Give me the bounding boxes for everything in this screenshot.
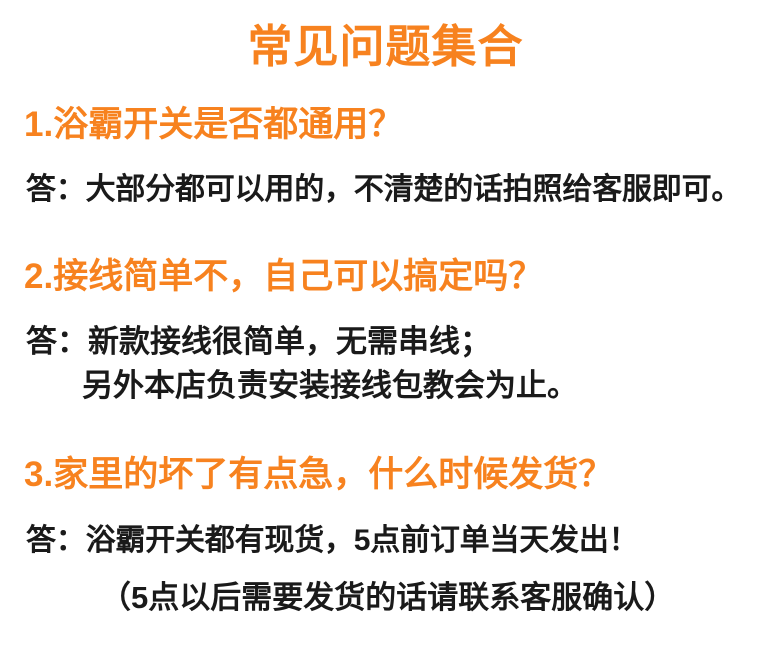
faq-page: 常见问题集合 1.浴霸开关是否都通用？ 答：大部分都可以用的，不清楚的话拍照给客… xyxy=(0,0,771,668)
faq-question-3: 3.家里的坏了有点急，什么时候发货？ xyxy=(0,454,771,495)
faq-item-1: 1.浴霸开关是否都通用？ xyxy=(0,104,771,145)
faq-answer-2-continuation: 另外本店负责安装接线包教会为止。 xyxy=(0,366,771,407)
faq-answer-group-1: 答：大部分都可以用的，不清楚的话拍照给客服即可。 xyxy=(0,170,771,210)
page-title: 常见问题集合 xyxy=(0,22,771,72)
faq-answer-2-line-1: 答：新款接线很简单，无需串线； xyxy=(0,322,771,363)
faq-answer-3-line-2: （5点以后需要发货的话请联系客服确认） xyxy=(0,578,771,619)
faq-answer-2-line-2: 另外本店负责安装接线包教会为止。 xyxy=(0,366,771,407)
faq-item-3: 3.家里的坏了有点急，什么时候发货？ xyxy=(0,454,771,495)
faq-answer-3-line-1: 答：浴霸开关都有现货，5点前订单当天发出！ xyxy=(0,521,771,561)
faq-question-2: 2.接线简单不，自己可以搞定吗？ xyxy=(0,256,771,297)
faq-question-1: 1.浴霸开关是否都通用？ xyxy=(0,104,771,145)
faq-answer-3-continuation: （5点以后需要发货的话请联系客服确认） xyxy=(0,578,771,619)
faq-answer-group-3: 答：浴霸开关都有现货，5点前订单当天发出！ xyxy=(0,521,771,561)
faq-answer-group-2: 答：新款接线很简单，无需串线； xyxy=(0,322,771,363)
faq-item-2: 2.接线简单不，自己可以搞定吗？ xyxy=(0,256,771,297)
faq-answer-1-line-1: 答：大部分都可以用的，不清楚的话拍照给客服即可。 xyxy=(0,170,771,210)
